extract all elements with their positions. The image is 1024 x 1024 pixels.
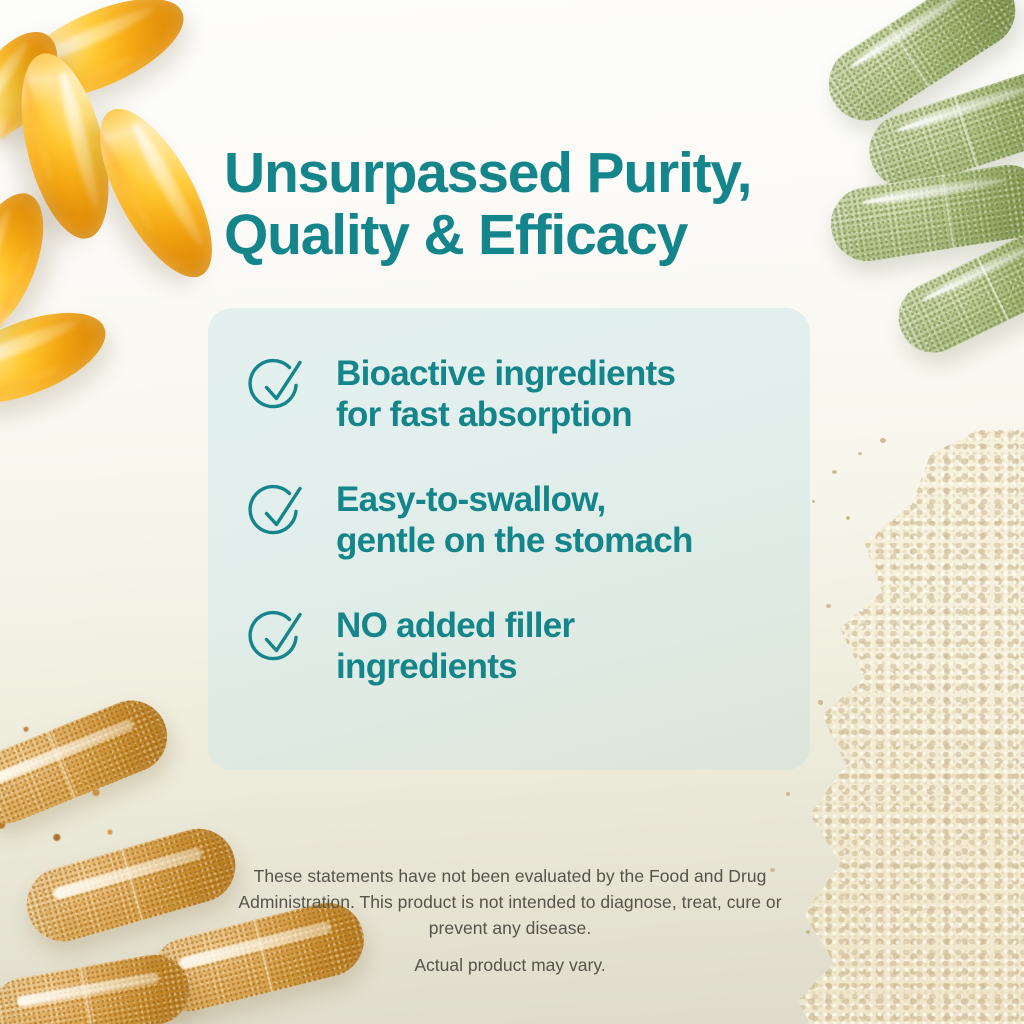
capsule-highlight [920,237,1024,305]
green-capsule [815,0,1024,135]
feature-item-easy-to-swallow: Easy-to-swallow, gentle on the stomach [248,478,792,562]
turmeric-capsule [0,949,195,1024]
softgel-capsule [0,294,117,421]
feature-line-1: Bioactive ingredients [336,354,675,393]
turmeric-capsule [18,820,244,950]
page-title: Unsurpassed Purity, Quality & Efficacy [224,142,844,266]
capsule-powder-texture [826,160,1024,267]
capsule-highlight [52,847,203,901]
green-capsule [826,160,1024,267]
product-variance-note: Actual product may vary. [212,952,808,978]
feature-line-1: Easy-to-swallow, [336,480,606,519]
feature-text: Bioactive ingredients for fast absorptio… [336,352,675,436]
feature-card: Bioactive ingredients for fast absorptio… [208,308,810,770]
spilled-powder [0,716,124,848]
headline-line-2: Quality & Efficacy [224,203,687,267]
capsule-powder-texture [0,949,195,1024]
capsule-seam [941,175,955,248]
capsule-seam [80,967,94,1024]
green-capsule [887,214,1024,365]
capsule-powder-texture [815,0,1024,135]
capsule-highlight [848,0,972,71]
capsule-highlight [0,718,135,785]
softgel-capsule [0,17,75,153]
feature-list: Bioactive ingredients for fast absorptio… [248,352,792,688]
capsule-powder-texture [0,690,178,835]
feature-line-2: ingredients [336,647,517,686]
circle-check-icon [248,482,310,544]
feature-line-1: NO added filler [336,606,574,645]
softgel-capsule [5,45,125,248]
capsule-seam [47,731,76,799]
capsule-powder-texture [887,214,1024,365]
capsule-seam [953,96,978,167]
feature-line-2: gentle on the stomach [336,521,693,560]
softgel-capsule [0,182,61,347]
fda-disclaimer: These statements have not been evaluated… [212,863,808,942]
capsule-highlight [896,81,1024,135]
capsule-powder-texture [860,61,1024,198]
softgel-capsule [1,0,197,120]
headline-line-1: Unsurpassed Purity, [224,141,751,205]
capsule-highlight [861,175,1008,207]
feature-text: NO added filler ingredients [336,604,574,688]
circle-check-icon [248,608,310,670]
turmeric-capsule [0,690,178,835]
feature-line-2: for fast absorption [336,395,632,434]
softgel-capsule [78,93,234,293]
capsule-seam [888,24,930,87]
promo-graphic: Unsurpassed Purity, Quality & Efficacy B… [0,0,1024,1024]
capsule-seam [121,849,143,921]
feature-item-no-fillers: NO added filler ingredients [248,604,792,688]
circle-check-icon [248,356,310,418]
capsule-powder-texture [18,820,244,950]
feature-item-bioactive: Bioactive ingredients for fast absorptio… [248,352,792,436]
capsule-seam [977,257,1009,321]
feature-text: Easy-to-swallow, gentle on the stomach [336,478,693,562]
capsule-highlight [16,972,160,1008]
green-capsule [860,61,1024,198]
